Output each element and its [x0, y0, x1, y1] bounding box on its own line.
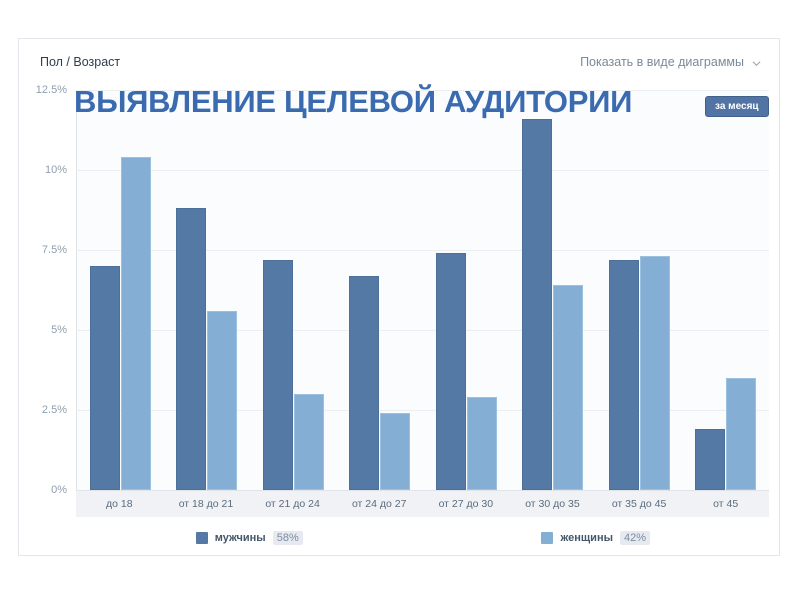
x-axis-category-label: от 18 до 21 [163, 491, 250, 517]
y-axis-tick-label: 12.5% [36, 84, 67, 96]
legend-item-male[interactable]: мужчины 58% [76, 527, 423, 549]
bar-female[interactable] [294, 394, 324, 490]
bar-female[interactable] [380, 413, 410, 490]
bar-group [164, 90, 251, 490]
period-badge: за месяц [705, 96, 769, 117]
legend-percent-male: 58% [273, 531, 303, 545]
bar-male[interactable] [609, 260, 639, 490]
x-axis-category-label: до 18 [76, 491, 163, 517]
legend-swatch-female-icon [541, 532, 553, 544]
y-axis-tick-label: 0% [51, 484, 67, 496]
legend-swatch-male-icon [196, 532, 208, 544]
chart-plot-area: 0%2.5%5%7.5%10%12.5% до 18от 18 до 21от … [19, 85, 781, 557]
bar-series-container [77, 90, 769, 490]
chart-legend: мужчины 58% женщины 42% [76, 527, 769, 549]
y-axis-tick-label: 2.5% [42, 404, 67, 416]
x-axis-category-label: от 35 до 45 [596, 491, 683, 517]
x-axis-category-label: от 30 до 35 [509, 491, 596, 517]
x-axis-category-label: от 45 [682, 491, 769, 517]
bar-group [683, 90, 770, 490]
bar-female[interactable] [467, 397, 497, 490]
bar-female[interactable] [726, 378, 756, 490]
bar-group [596, 90, 683, 490]
x-axis-category-label: от 21 до 24 [249, 491, 336, 517]
legend-label-male: мужчины [215, 532, 266, 544]
x-axis-category-label: от 27 до 30 [423, 491, 510, 517]
bar-male[interactable] [695, 429, 725, 490]
bar-male[interactable] [263, 260, 293, 490]
legend-percent-female: 42% [620, 531, 650, 545]
card-header: Пол / Возраст Показать в виде диаграммы [19, 39, 779, 85]
bar-male[interactable] [90, 266, 120, 490]
bar-male[interactable] [176, 208, 206, 490]
bar-group [250, 90, 337, 490]
bar-male[interactable] [522, 119, 552, 490]
bar-male[interactable] [349, 276, 379, 490]
page-title: Пол / Возраст [40, 55, 120, 69]
chevron-down-icon [752, 59, 761, 68]
y-axis-tick-label: 5% [51, 324, 67, 336]
bar-female[interactable] [640, 256, 670, 490]
view-as-chart-toggle[interactable]: Показать в виде диаграммы [580, 55, 761, 69]
bar-group [423, 90, 510, 490]
view-toggle-label: Показать в виде диаграммы [580, 55, 744, 69]
bar-group [510, 90, 597, 490]
bar-female[interactable] [553, 285, 583, 490]
bar-female[interactable] [121, 157, 151, 490]
bar-group [77, 90, 164, 490]
bar-male[interactable] [436, 253, 466, 490]
y-axis-tick-label: 7.5% [42, 244, 67, 256]
legend-label-female: женщины [560, 532, 613, 544]
bar-female[interactable] [207, 311, 237, 490]
bar-group [337, 90, 424, 490]
overlay-headline: ВЫЯВЛЕНИЕ ЦЕЛЕВОЙ АУДИТОРИИ [74, 84, 632, 120]
x-axis-category-band: до 18от 18 до 21от 21 до 24от 24 до 27от… [76, 490, 769, 517]
y-axis-tick-label: 10% [45, 164, 67, 176]
legend-item-female[interactable]: женщины 42% [423, 527, 770, 549]
x-axis-category-label: от 24 до 27 [336, 491, 423, 517]
